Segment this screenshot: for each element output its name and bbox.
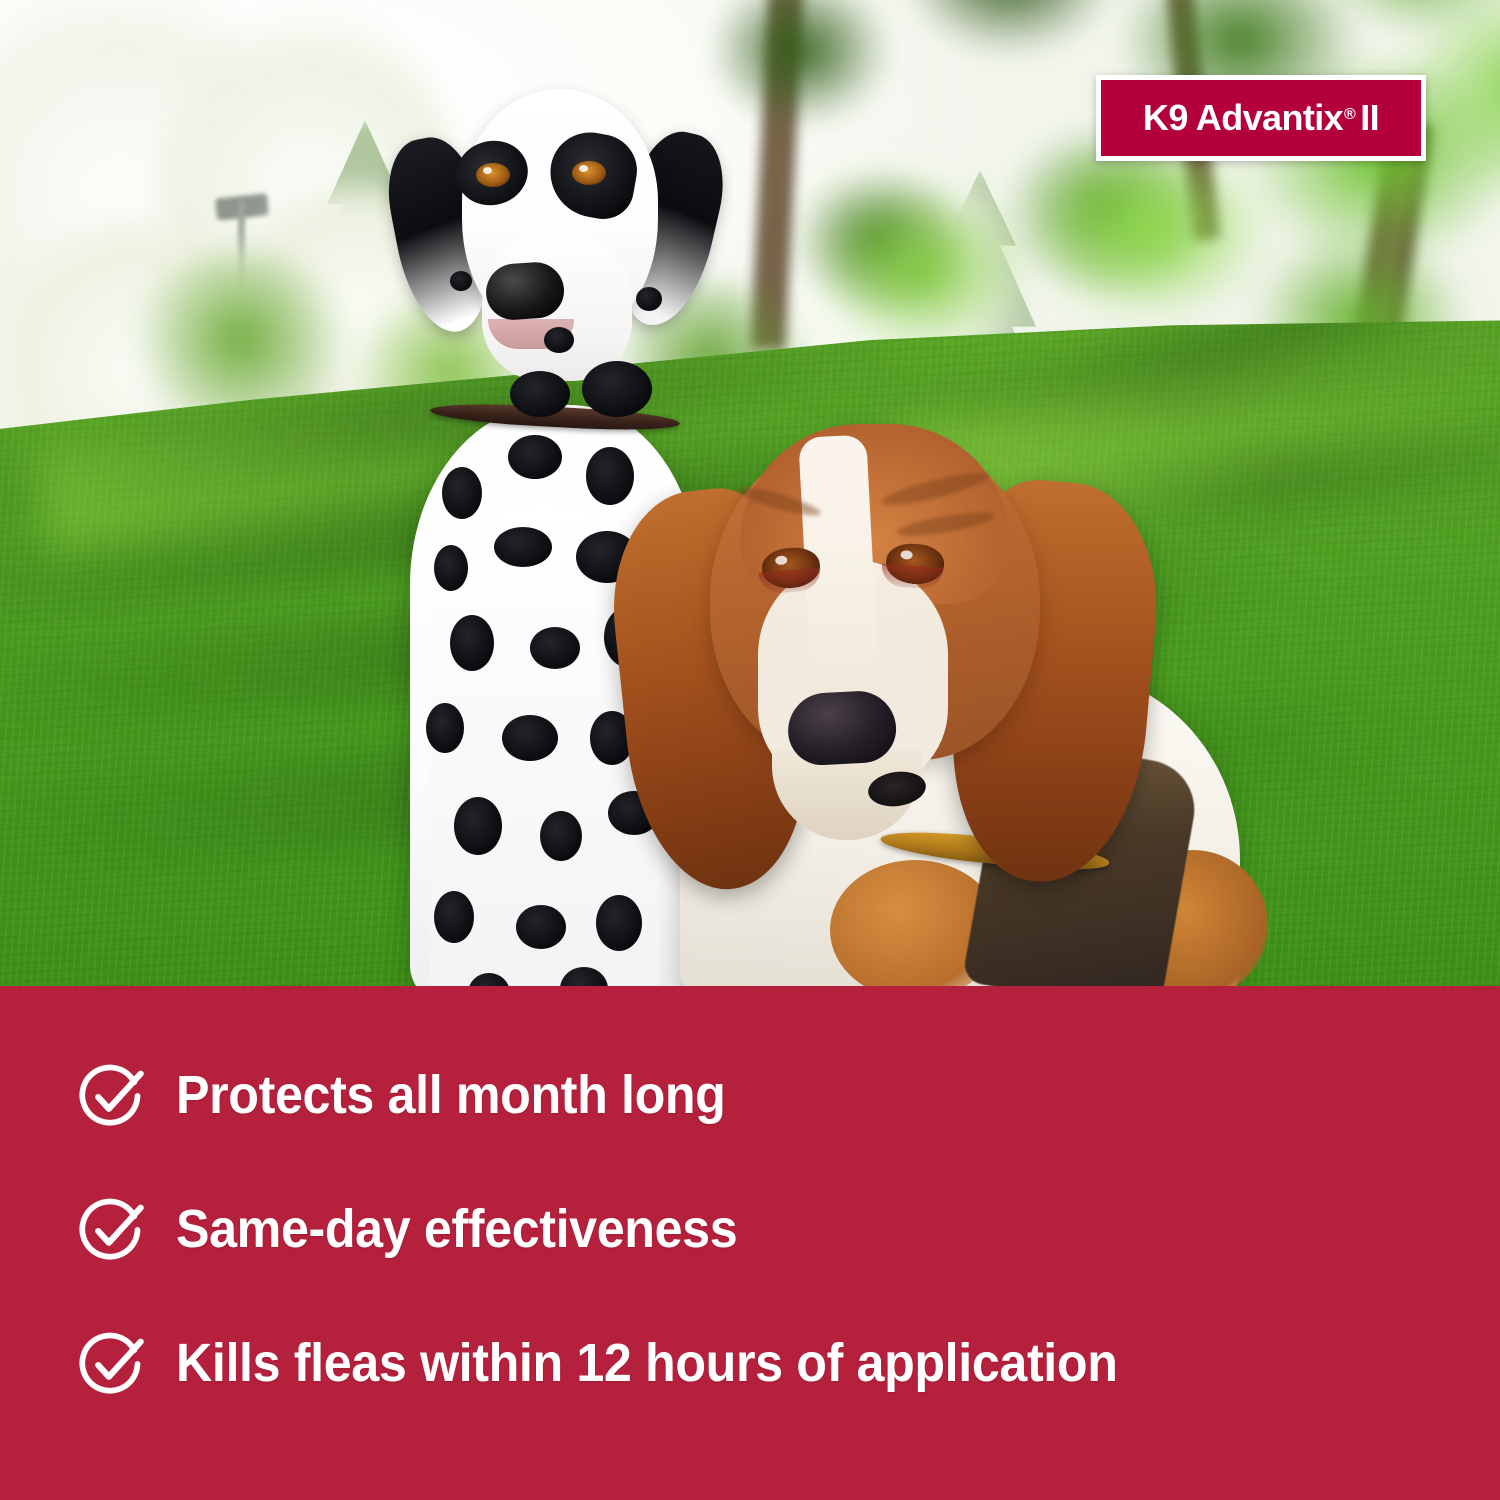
hero-photo: K9 Advantix®II [0,0,1500,986]
basset-hound-dog [630,420,1290,986]
dalmatian-spot [586,447,634,505]
benefit-item: Kills fleas within 12 hours of applicati… [78,1330,1188,1398]
dalmatian-spot [502,715,558,761]
brand-logo-badge: K9 Advantix®II [1096,75,1426,161]
brand-logo-text: K9 Advantix®II [1143,97,1379,139]
dalmatian-spot [516,905,566,949]
benefit-label: Protects all month long [176,1068,725,1123]
dalmatian-spot [510,371,570,417]
dalmatian-spot [494,527,552,567]
dalmatian-spot [582,361,652,417]
product-hero-image: K9 Advantix®II Protects all month long S… [0,0,1500,1500]
check-circle-icon [78,1330,146,1398]
dalmatian-spot [540,811,582,861]
check-circle-icon [78,1062,146,1130]
dalmatian-spot [426,703,464,753]
benefit-label: Same-day effectiveness [176,1202,737,1257]
dalmatian-spot [434,545,468,591]
dalmatian-spot [454,797,502,855]
basset-nose [786,689,898,767]
dalmatian-eye-left [476,163,510,187]
dalmatian-spot [450,271,472,291]
benefit-item: Protects all month long [78,1062,767,1130]
benefit-item: Same-day effectiveness [78,1196,780,1264]
dalmatian-spot [434,891,474,943]
benefits-panel: Protects all month long Same-day effecti… [0,986,1500,1500]
benefit-label: Kills fleas within 12 hours of applicati… [176,1336,1118,1391]
dalmatian-spot [544,327,574,353]
dalmatian-spot [442,467,482,519]
registered-mark-icon: ® [1344,106,1355,124]
check-circle-icon [78,1196,146,1264]
dalmatian-eye-right [572,161,606,185]
brand-logo-inner: K9 Advantix®II [1101,80,1421,156]
dalmatian-spot [530,627,580,669]
dalmatian-spot [636,287,662,311]
dalmatian-spot [450,615,494,671]
brand-logo-name: K9 Advantix [1143,97,1343,139]
brand-logo-version: II [1360,97,1379,139]
dalmatian-spot [508,435,562,479]
